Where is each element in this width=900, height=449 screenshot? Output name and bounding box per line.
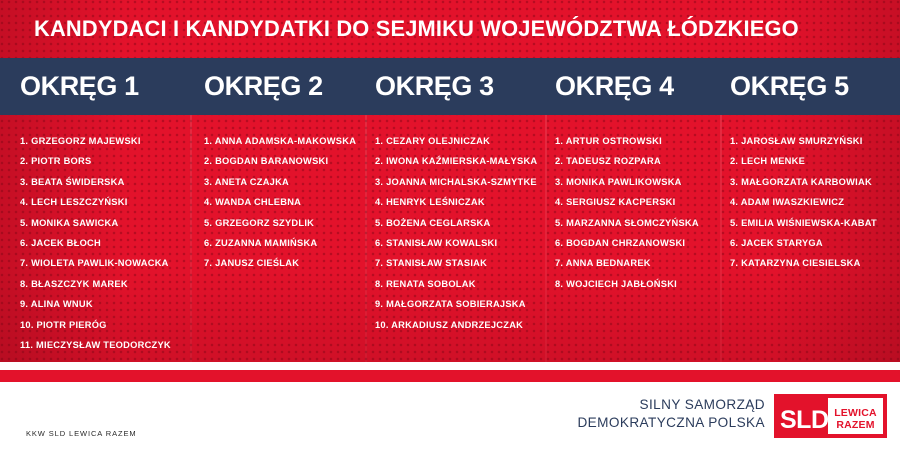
candidate-column-1: 1. GRZEGORZ MAJEWSKI 2. PIOTR BORS 3. BE… — [0, 115, 190, 362]
candidate-item: 7. WIOLETA PAWLIK-NOWACKA — [20, 253, 190, 273]
candidate-item: 2. LECH MENKE — [730, 151, 900, 171]
candidate-item: 6. STANISŁAW KOWALSKI — [375, 233, 545, 253]
candidate-item: 1. GRZEGORZ MAJEWSKI — [20, 131, 190, 151]
candidate-item: 1. JAROSŁAW SMURZYŃSKI — [730, 131, 900, 151]
lewica-label: LEWICA — [834, 407, 877, 419]
candidate-item: 1. ANNA ADAMSKA-MAKOWSKA — [204, 131, 365, 151]
candidate-item: 4. LECH LESZCZYŃSKI — [20, 192, 190, 212]
candidate-item: 7. ANNA BEDNAREK — [555, 253, 720, 273]
district-heading-2: OKRĘG 2 — [190, 71, 365, 102]
candidate-item: 2. BOGDAN BARANOWSKI — [204, 151, 365, 171]
candidate-item: 6. JACEK BŁOCH — [20, 233, 190, 253]
candidate-item: 2. TADEUSZ ROZPARA — [555, 151, 720, 171]
district-heading-5: OKRĘG 5 — [720, 71, 900, 102]
district-heading-band: OKRĘG 1 OKRĘG 2 OKRĘG 3 OKRĘG 4 OKRĘG 5 — [0, 58, 900, 115]
candidate-item: 6. ZUZANNA MAMIŃSKA — [204, 233, 365, 253]
candidate-item: 5. MARZANNA SŁOMCZYŃSKA — [555, 213, 720, 233]
candidate-item: 2. IWONA KAŹMIERSKA-MAŁYSKA — [375, 151, 545, 171]
candidate-item: 10. PIOTR PIERÓG — [20, 315, 190, 335]
candidate-item: 4. WANDA CHLEBNA — [204, 192, 365, 212]
candidate-item: 7. KATARZYNA CIESIELSKA — [730, 253, 900, 273]
candidate-item: 7. STANISŁAW STASIAK — [375, 253, 545, 273]
candidate-item: 5. BOŻENA CEGLARSKA — [375, 213, 545, 233]
candidate-item: 4. ADAM IWASZKIEWICZ — [730, 192, 900, 212]
candidate-item: 4. HENRYK LEŚNICZAK — [375, 192, 545, 212]
slogan-line-1: SILNY SAMORZĄD — [577, 396, 765, 414]
district-heading-3: OKRĘG 3 — [365, 71, 545, 102]
candidate-item: 8. WOJCIECH JABŁOŃSKI — [555, 274, 720, 294]
candidate-item: 1. ARTUR OSTROWSKI — [555, 131, 720, 151]
sld-logo-wordmark: SLD — [774, 408, 829, 438]
candidate-item: 2. PIOTR BORS — [20, 151, 190, 171]
candidate-item: 3. MONIKA PAWLIKOWSKA — [555, 172, 720, 192]
sld-logo: SLD LEWICA RAZEM — [774, 394, 887, 438]
candidate-item: 5. GRZEGORZ SZYDLIK — [204, 213, 365, 233]
candidate-column-3: 1. CEZARY OLEJNICZAK 2. IWONA KAŹMIERSKA… — [365, 115, 545, 362]
candidate-item: 8. BŁASZCZYK MAREK — [20, 274, 190, 294]
candidate-item: 5. EMILIA WIŚNIEWSKA-KABAT — [730, 213, 900, 233]
committee-note: KKW SLD LEWICA RAZEM — [26, 429, 137, 438]
candidate-item: 11. MIECZYSŁAW TEODORCZYK — [20, 335, 190, 355]
candidate-item: 8. RENATA SOBOLAK — [375, 274, 545, 294]
candidate-item: 5. MONIKA SAWICKA — [20, 213, 190, 233]
red-accent-stripe — [0, 370, 900, 382]
lewica-razem-block: LEWICA RAZEM — [828, 398, 883, 434]
candidate-columns: 1. GRZEGORZ MAJEWSKI 2. PIOTR BORS 3. BE… — [0, 115, 900, 362]
candidate-item: 10. ARKADIUSZ ANDRZEJCZAK — [375, 315, 545, 335]
candidate-item: 9. MAŁGORZATA SOBIERAJSKA — [375, 294, 545, 314]
candidate-column-2: 1. ANNA ADAMSKA-MAKOWSKA 2. BOGDAN BARAN… — [190, 115, 365, 362]
candidate-column-4: 1. ARTUR OSTROWSKI 2. TADEUSZ ROZPARA 3.… — [545, 115, 720, 362]
candidate-item: 6. BOGDAN CHRZANOWSKI — [555, 233, 720, 253]
candidate-item: 3. MAŁGORZATA KARBOWIAK — [730, 172, 900, 192]
title-bar: KANDYDACI I KANDYDATKI DO SEJMIKU WOJEWÓ… — [0, 0, 900, 58]
campaign-slogan: SILNY SAMORZĄD DEMOKRATYCZNA POLSKA — [577, 396, 765, 431]
page-title: KANDYDACI I KANDYDATKI DO SEJMIKU WOJEWÓ… — [34, 16, 799, 42]
candidate-column-5: 1. JAROSŁAW SMURZYŃSKI 2. LECH MENKE 3. … — [720, 115, 900, 362]
slogan-line-2: DEMOKRATYCZNA POLSKA — [577, 414, 765, 432]
campaign-poster: KANDYDACI I KANDYDATKI DO SEJMIKU WOJEWÓ… — [0, 0, 900, 449]
razem-label: RAZEM — [836, 419, 874, 431]
candidate-item: 9. ALINA WNUK — [20, 294, 190, 314]
candidate-item: 1. CEZARY OLEJNICZAK — [375, 131, 545, 151]
candidate-item: 3. ANETA CZAJKA — [204, 172, 365, 192]
white-separator — [0, 362, 900, 370]
candidate-item: 4. SERGIUSZ KACPERSKI — [555, 192, 720, 212]
candidate-item: 3. JOANNA MICHALSKA-SZMYTKE — [375, 172, 545, 192]
candidate-item: 7. JANUSZ CIEŚLAK — [204, 253, 365, 273]
district-heading-1: OKRĘG 1 — [0, 71, 190, 102]
district-heading-4: OKRĘG 4 — [545, 71, 720, 102]
candidate-item: 3. BEATA ŚWIDERSKA — [20, 172, 190, 192]
candidate-item: 6. JACEK STARYGA — [730, 233, 900, 253]
footer: KKW SLD LEWICA RAZEM SILNY SAMORZĄD DEMO… — [0, 382, 900, 449]
